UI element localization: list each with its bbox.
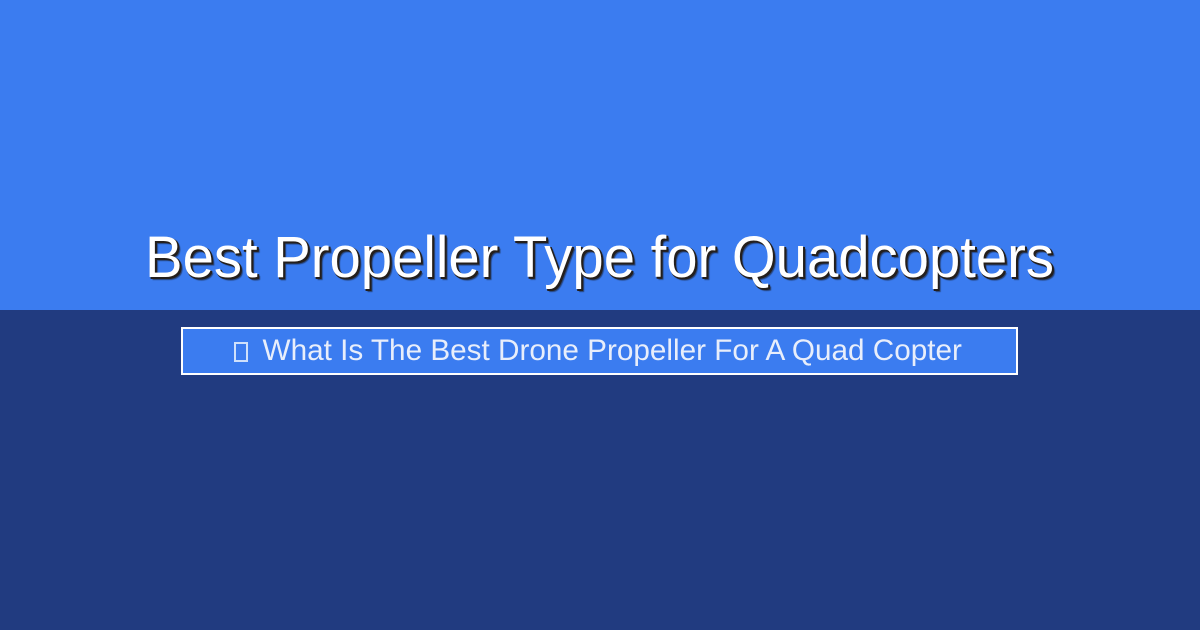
page-title: Best Propeller Type for Quadcopters — [146, 229, 1055, 287]
subtitle-content: What Is The Best Drone Propeller For A Q… — [234, 336, 965, 366]
subtitle-label: What Is The Best Drone Propeller For A Q… — [262, 336, 961, 366]
video-thumbnail-card: Best Propeller Type for Quadcopters What… — [0, 0, 1200, 630]
page-title-container: Best Propeller Type for Quadcopters — [0, 222, 1200, 294]
subtitle-banner[interactable]: What Is The Best Drone Propeller For A Q… — [181, 327, 1018, 375]
missing-glyph-box-icon — [234, 342, 248, 362]
